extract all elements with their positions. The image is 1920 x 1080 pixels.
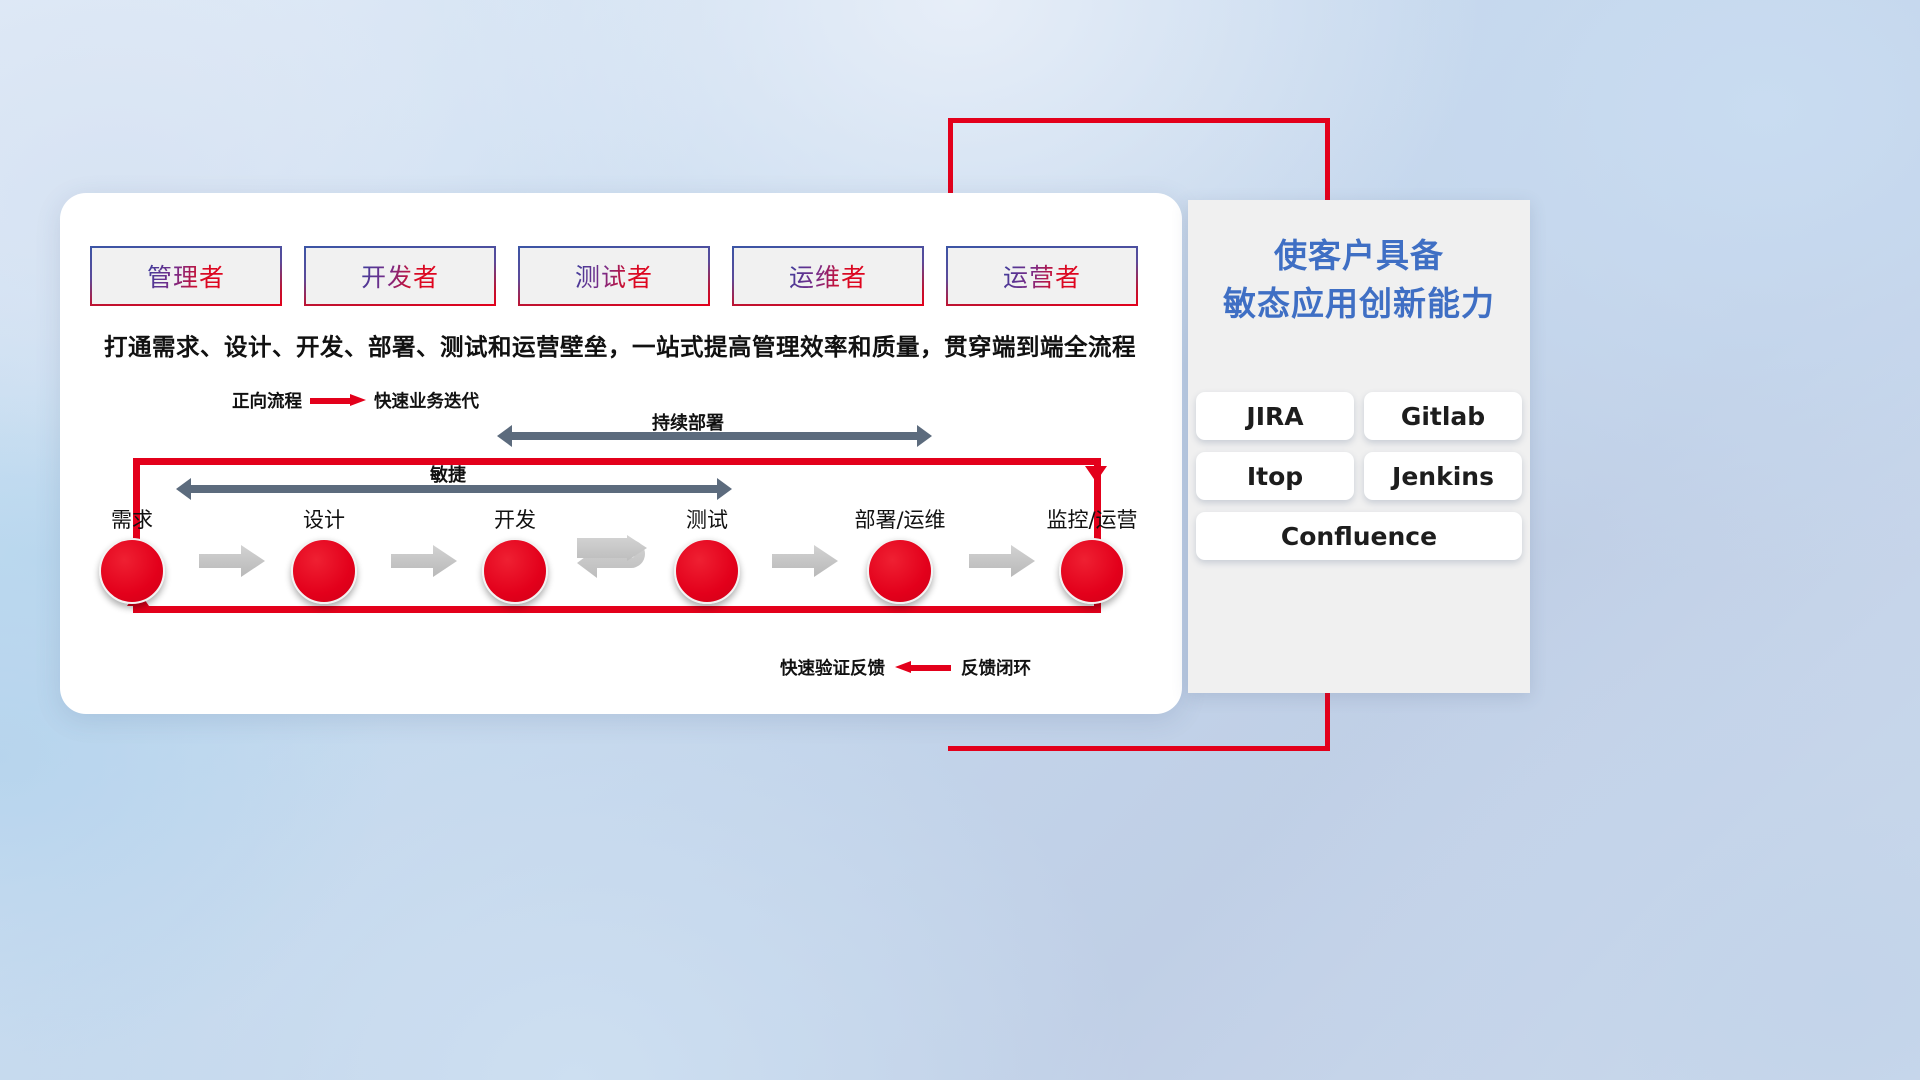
role-box-operations[interactable]: 运营者: [948, 248, 1136, 304]
stage-development[interactable]: 开发: [460, 504, 570, 604]
connector-arrow-icon: [389, 544, 459, 578]
stage-dot: [867, 538, 933, 604]
stage-testing[interactable]: 测试: [652, 504, 762, 604]
description-text: 打通需求、设计、开发、部署、测试和运营壁垒，一站式提高管理效率和质量，贯穿端到端…: [100, 328, 1140, 362]
role-box-row: 管理者 开发者 测试者 运维者 运营者: [92, 248, 1136, 306]
role-box-manager[interactable]: 管理者: [92, 248, 280, 304]
tool-chip-jenkins[interactable]: Jenkins: [1364, 452, 1522, 500]
tool-chip-confluence[interactable]: Confluence: [1196, 512, 1522, 560]
stage-label: 监控/运营: [1037, 504, 1147, 534]
role-box-ops[interactable]: 运维者: [734, 248, 922, 304]
stage-dot: [1059, 538, 1125, 604]
red-left-arrow-icon: [895, 661, 951, 674]
feedback-loop-label: 反馈闭环: [961, 655, 1031, 680]
process-stage-row: 需求 设计 开发 测试: [92, 498, 1152, 618]
tool-chip-gitlab[interactable]: Gitlab: [1364, 392, 1522, 440]
stage-label: 设计: [269, 504, 379, 534]
loop-arrow-down-icon: [1085, 466, 1107, 482]
stage-dot: [674, 538, 740, 604]
connector-arrow-icon: [770, 544, 840, 578]
tool-chip-list: JIRA Gitlab Itop Jenkins Confluence: [1196, 392, 1522, 560]
feedback-legend: 快速验证反馈 反馈闭环: [780, 655, 1031, 680]
role-label: 运维者: [789, 258, 867, 294]
fast-validation-label: 快速验证反馈: [780, 655, 885, 680]
tool-chip-itop[interactable]: Itop: [1196, 452, 1354, 500]
continuous-deployment-arrow-icon: [497, 425, 932, 447]
role-box-tester[interactable]: 测试者: [520, 248, 708, 304]
connector-arrow-icon: [967, 544, 1037, 578]
forward-flow-legend: 正向流程 快速业务迭代: [232, 388, 479, 413]
fast-iteration-label: 快速业务迭代: [374, 388, 479, 413]
role-box-developer[interactable]: 开发者: [306, 248, 494, 304]
role-label: 管理者: [147, 258, 225, 294]
tool-chip-jira[interactable]: JIRA: [1196, 392, 1354, 440]
role-label: 运营者: [1003, 258, 1081, 294]
stage-design[interactable]: 设计: [269, 504, 379, 604]
stage-deploy-ops[interactable]: 部署/运维: [845, 504, 955, 604]
bracket-bottom-segment: [948, 746, 1330, 751]
stage-dot: [291, 538, 357, 604]
stage-monitor-operations[interactable]: 监控/运营: [1037, 504, 1147, 604]
stage-label: 开发: [460, 504, 570, 534]
role-label: 测试者: [575, 258, 653, 294]
stage-requirement[interactable]: 需求: [77, 504, 187, 604]
stage-label: 测试: [652, 504, 762, 534]
panel-title: 使客户具备 敏态应用创新能力: [1196, 232, 1522, 328]
role-label: 开发者: [361, 258, 439, 294]
stage-dot: [99, 538, 165, 604]
connector-arrow-icon: [197, 544, 267, 578]
stage-label: 部署/运维: [845, 504, 955, 534]
bracket-top-segment: [948, 118, 1330, 123]
red-right-arrow-icon: [310, 394, 366, 407]
panel-title-line2: 敏态应用创新能力: [1196, 280, 1522, 328]
panel-title-line1: 使客户具备: [1196, 232, 1522, 280]
stage-label: 需求: [77, 504, 187, 534]
stage-dot: [482, 538, 548, 604]
forward-flow-label: 正向流程: [232, 388, 302, 413]
